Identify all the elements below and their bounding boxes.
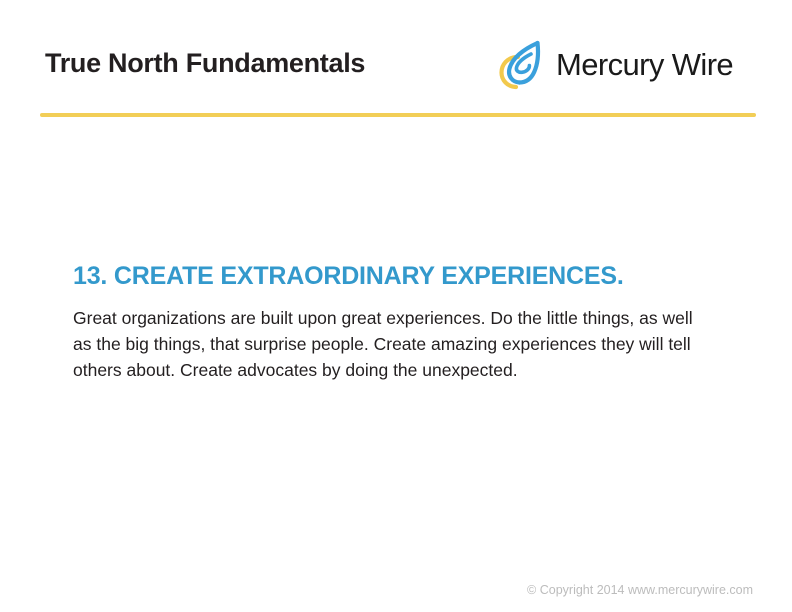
header-divider — [40, 113, 756, 117]
page-title: True North Fundamentals — [45, 48, 365, 79]
brand-wordmark: Mercury Wire — [556, 49, 733, 82]
slide: True North Fundamentals Mercury Wire 13.… — [0, 0, 792, 612]
brand-logo: Mercury Wire — [498, 39, 733, 91]
slide-content: 13. CREATE EXTRAORDINARY EXPERIENCES. Gr… — [73, 262, 723, 383]
copyright-notice: © Copyright 2014 www.mercurywire.com — [527, 583, 753, 597]
slide-header: True North Fundamentals Mercury Wire — [0, 0, 792, 118]
content-body-text: Great organizations are built upon great… — [73, 305, 713, 383]
content-heading: 13. CREATE EXTRAORDINARY EXPERIENCES. — [73, 262, 723, 291]
mercury-wire-leaf-mark-icon — [498, 39, 546, 91]
